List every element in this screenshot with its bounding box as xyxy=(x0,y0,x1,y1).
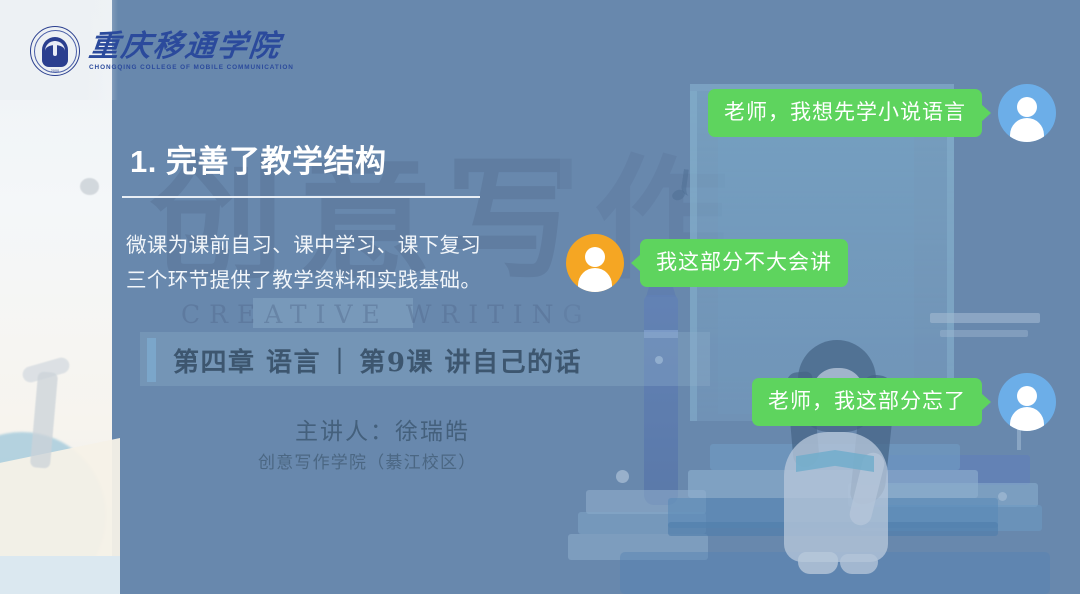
course-separator: | xyxy=(335,345,345,375)
course-lesson: 第9课 讲自己的话 xyxy=(359,342,582,379)
emblem-core-glyph xyxy=(42,37,68,67)
chat-bubble-3[interactable]: 老师，我这部分忘了 xyxy=(752,378,982,426)
slide-paragraph: 微课为课前自习、课中学习、课下复习 三个环节提供了教学资料和实践基础。 xyxy=(126,228,546,299)
chat-message-3: 老师，我这部分忘了 xyxy=(752,373,1056,431)
avatar-torso-icon xyxy=(1010,118,1044,142)
avatar-head-icon xyxy=(1017,386,1037,406)
course-presenter: 主讲人：徐瑞皓 xyxy=(295,412,470,446)
school-logo-text: 重庆移通学院 CHONGQING COLLEGE OF MOBILE COMMU… xyxy=(89,31,294,72)
student-avatar-blue-1[interactable] xyxy=(998,84,1056,142)
decor-pebble-icon xyxy=(80,178,99,195)
paragraph-line-2: 三个环节提供了教学资料和实践基础。 xyxy=(126,263,546,298)
course-institute: 创意写作学院（綦江校区） xyxy=(258,448,476,473)
school-name-cn: 重庆移通学院 xyxy=(87,31,295,63)
chat-bubble-1[interactable]: 老师，我想先学小说语言 xyxy=(708,89,982,137)
course-chapter: 第四章 语言 xyxy=(173,342,321,379)
watermark-english: CREATIVE WRITING xyxy=(181,300,591,329)
avatar-torso-icon xyxy=(1010,407,1044,431)
course-accent-bar xyxy=(147,338,156,382)
avatar-head-icon xyxy=(585,247,605,267)
chat-bubble-2[interactable]: 我这部分不大会讲 xyxy=(640,239,848,287)
student-avatar-orange-2[interactable] xyxy=(566,234,624,292)
school-emblem-icon: 2000 xyxy=(30,26,80,76)
emblem-year: 2000 xyxy=(51,69,60,73)
presentation-slide: 创意写作 CREATIVE WRITING xyxy=(0,0,1080,594)
paragraph-line-1: 微课为课前自习、课中学习、课下复习 xyxy=(126,228,546,263)
student-avatar-blue-3[interactable] xyxy=(998,373,1056,431)
chat-message-2: 我这部分不大会讲 xyxy=(566,234,848,292)
avatar-torso-icon xyxy=(578,268,612,292)
school-name-en: CHONGQING COLLEGE OF MOBILE COMMUNICATIO… xyxy=(89,64,294,71)
school-logo: 2000 重庆移通学院 CHONGQING COLLEGE OF MOBILE … xyxy=(30,26,294,76)
course-title-row: 第四章 语言 | 第9课 讲自己的话 xyxy=(147,338,582,382)
avatar-head-icon xyxy=(1017,97,1037,117)
decor-band-blue xyxy=(0,556,120,594)
chat-message-1: 老师，我想先学小说语言 xyxy=(708,84,1056,142)
heading-divider xyxy=(122,196,480,198)
slide-heading: 1. 完善了教学结构 xyxy=(130,136,386,181)
